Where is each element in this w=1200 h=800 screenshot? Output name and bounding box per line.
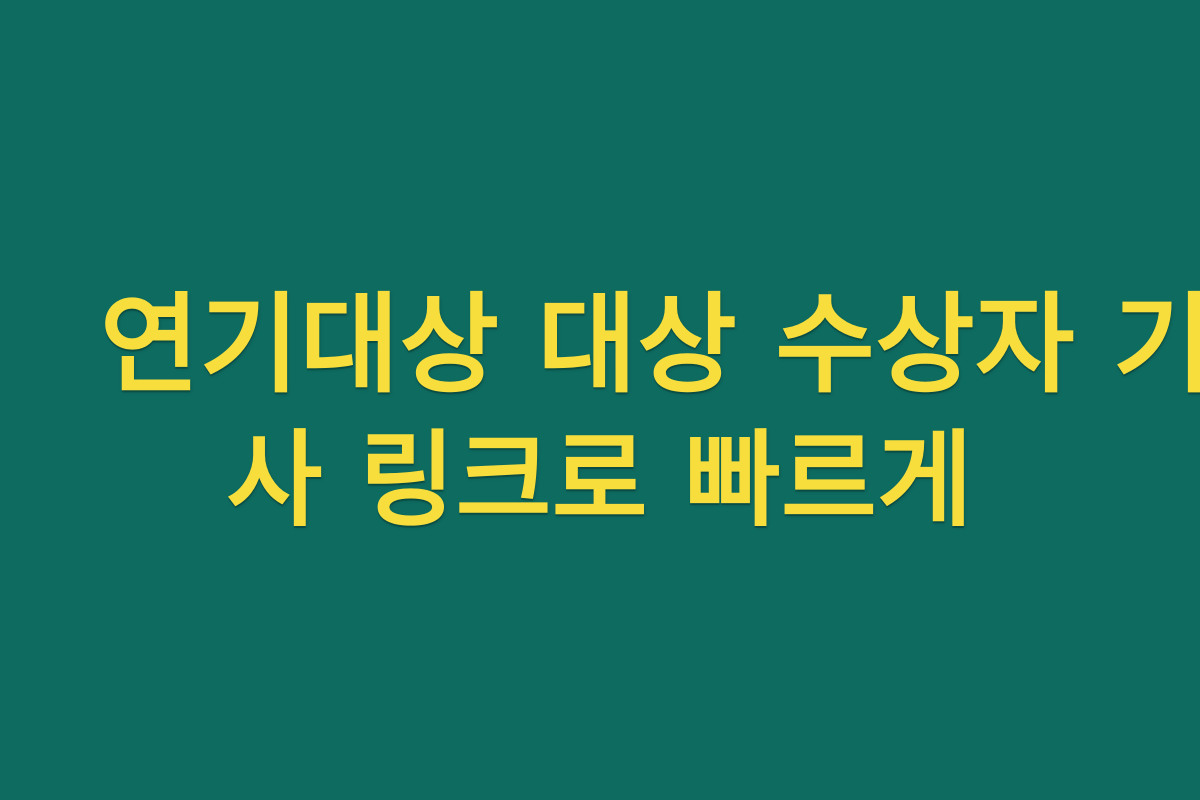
headline-line-2: 사 링크로 빠르게 [100,413,1100,548]
banner-canvas: 연기대상 대상 수상자 기 사 링크로 빠르게 [0,0,1200,800]
headline-text-block: 연기대상 대상 수상자 기 사 링크로 빠르게 [60,278,1140,548]
headline-line-1: 연기대상 대상 수상자 기 [100,278,1100,413]
